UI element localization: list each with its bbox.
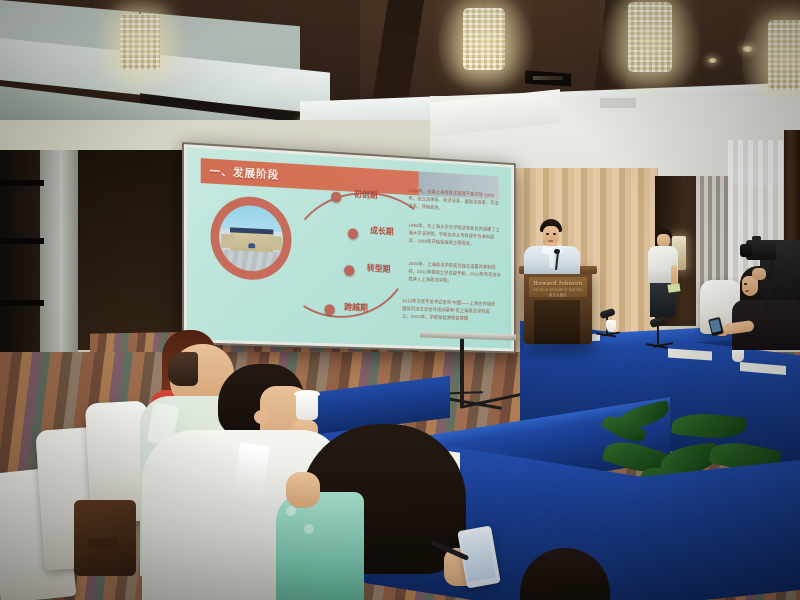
left-back-wall-dark (78, 150, 188, 350)
teacup-4-lid (294, 390, 320, 398)
stage-paragraph-4: 2013年习近平总书记宣布“中国——上海合作组织国际司法交流合作培训基地”在上海… (402, 297, 496, 323)
left-wall-groove (0, 180, 44, 186)
building-entrance (248, 243, 255, 248)
table-front-right (610, 460, 800, 600)
dslr-camera-lens (740, 244, 752, 257)
plant-leaf (671, 410, 747, 442)
stage-label-3: 转型期 (367, 262, 390, 275)
dslr-camera-flash (752, 236, 761, 241)
recessed-downlight (708, 58, 717, 63)
stage-paragraph-2: 1993年，与上海大学文学院法律系合并组建了上海大学法学院，学校办学从专科提升为… (408, 222, 502, 250)
teacup-2 (732, 348, 744, 362)
left-wall-groove (0, 238, 44, 244)
stage-node-4[interactable] (325, 304, 335, 315)
podium-microphone-head (554, 249, 560, 254)
vent-slats (533, 76, 563, 80)
audience-bald-man-hair-side (168, 352, 198, 386)
audience-woman-front-neck (286, 472, 320, 508)
stage-label-2: 成长期 (370, 225, 393, 238)
building-wing-left (221, 234, 234, 248)
left-wall-groove (0, 300, 44, 306)
stage-paragraph-3: 2004年，上海政法学院成为独立设置的本科院校，2011年获硕士学位授予权，20… (408, 260, 502, 287)
podium-brand-plate: Howard Johnson HOTELS RESORTS SUITES 豪生大… (529, 277, 587, 297)
panel-woman-lips (745, 290, 749, 292)
teacup-1 (606, 320, 616, 332)
slide-title: 一、发展阶段 (201, 162, 279, 182)
stage-label-1: 初创期 (354, 188, 378, 201)
conference-room-screenshot: 一、发展阶段 初创期 (0, 0, 800, 600)
podium-lower-panel (534, 300, 580, 344)
screen-stand-pole (460, 336, 464, 408)
stage-paragraph-1: 1984年，创建上海市政法管理干部学院 1985年，设立法律系、经济法系、国际法… (408, 187, 502, 215)
lace-pattern (304, 524, 314, 534)
audience-man-ear (254, 410, 270, 424)
bag-strap (88, 538, 118, 548)
lace-pattern (286, 506, 296, 516)
teacup-4 (296, 396, 318, 420)
stage-label-4: 跨越期 (344, 301, 368, 313)
panel-woman-eye (744, 283, 747, 285)
podium-brand-cn: 豪生大酒店 (529, 292, 587, 297)
speaker-eye-right (553, 233, 556, 235)
presentation-slide: 一、发展阶段 初创期 (187, 147, 511, 348)
wall-panel-small (600, 98, 636, 108)
standing-man-paper (668, 283, 681, 293)
microphone-2-stem (657, 325, 659, 345)
photographer-hand (752, 268, 766, 280)
stage-node-2[interactable] (347, 228, 357, 239)
speaker-eye-left (546, 233, 549, 235)
campus-photo (220, 204, 284, 272)
projection-screen[interactable]: 一、发展阶段 初创期 (182, 142, 516, 353)
speaker-mouth (548, 240, 553, 242)
podium-brand-name: Howard Johnson (529, 281, 587, 287)
campus-plaza (220, 250, 284, 272)
